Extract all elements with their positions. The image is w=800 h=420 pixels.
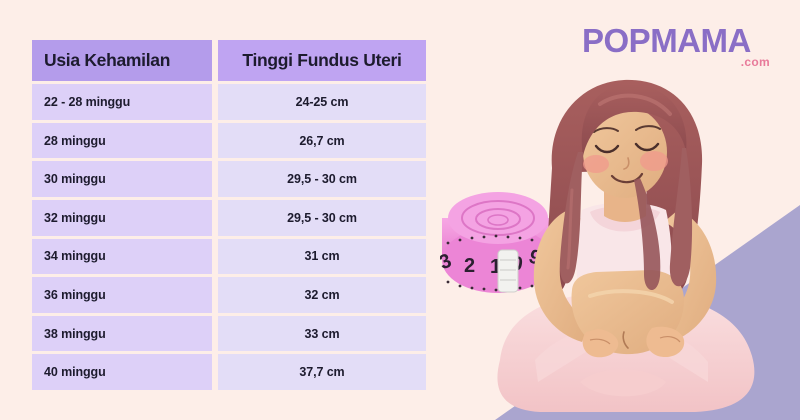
cell-usia: 36 minggu (32, 277, 212, 313)
logo-wordmark: POPMAMA (582, 24, 782, 57)
table-row: 36 minggu 32 cm (32, 277, 426, 313)
cell-tinggi: 32 cm (218, 277, 426, 313)
cell-usia: 30 minggu (32, 161, 212, 197)
cell-tinggi: 29,5 - 30 cm (218, 200, 426, 236)
cell-usia: 32 minggu (32, 200, 212, 236)
table-row: 30 minggu 29,5 - 30 cm (32, 161, 426, 197)
table-header-row: Usia Kehamilan Tinggi Fundus Uteri (32, 40, 426, 81)
cell-tinggi: 33 cm (218, 316, 426, 352)
table-row: 40 minggu 37,7 cm (32, 354, 426, 390)
table-row: 38 minggu 33 cm (32, 316, 426, 352)
table-row: 28 minggu 26,7 cm (32, 123, 426, 159)
table-row: 32 minggu 29,5 - 30 cm (32, 200, 426, 236)
pregnant-woman-illustration: 3 2 1 0 9 8 (440, 60, 800, 420)
cell-usia: 40 minggu (32, 354, 212, 390)
svg-text:2: 2 (464, 255, 475, 277)
logo-dotcom-suffix: .com (741, 55, 770, 69)
blush-left (583, 155, 609, 173)
column-header-tinggi-fundus-uteri: Tinggi Fundus Uteri (218, 40, 426, 81)
table-row: 22 - 28 minggu 24-25 cm (32, 84, 426, 120)
cell-tinggi: 26,7 cm (218, 123, 426, 159)
fundal-height-table: Usia Kehamilan Tinggi Fundus Uteri 22 - … (32, 40, 426, 390)
cell-tinggi: 24-25 cm (218, 84, 426, 120)
blush-right (640, 151, 668, 171)
cell-tinggi: 31 cm (218, 239, 426, 275)
cell-tinggi: 29,5 - 30 cm (218, 161, 426, 197)
column-header-usia-kehamilan: Usia Kehamilan (32, 40, 212, 81)
cell-usia: 38 minggu (32, 316, 212, 352)
cell-usia: 22 - 28 minggu (32, 84, 212, 120)
cell-usia: 28 minggu (32, 123, 212, 159)
tape-clip (498, 250, 518, 292)
cell-usia: 34 minggu (32, 239, 212, 275)
popmama-logo[interactable]: POPMAMA .com (582, 24, 782, 72)
infographic-canvas: 3 2 1 0 9 8 (0, 0, 800, 420)
table-row: 34 minggu 31 cm (32, 239, 426, 275)
cell-tinggi: 37,7 cm (218, 354, 426, 390)
